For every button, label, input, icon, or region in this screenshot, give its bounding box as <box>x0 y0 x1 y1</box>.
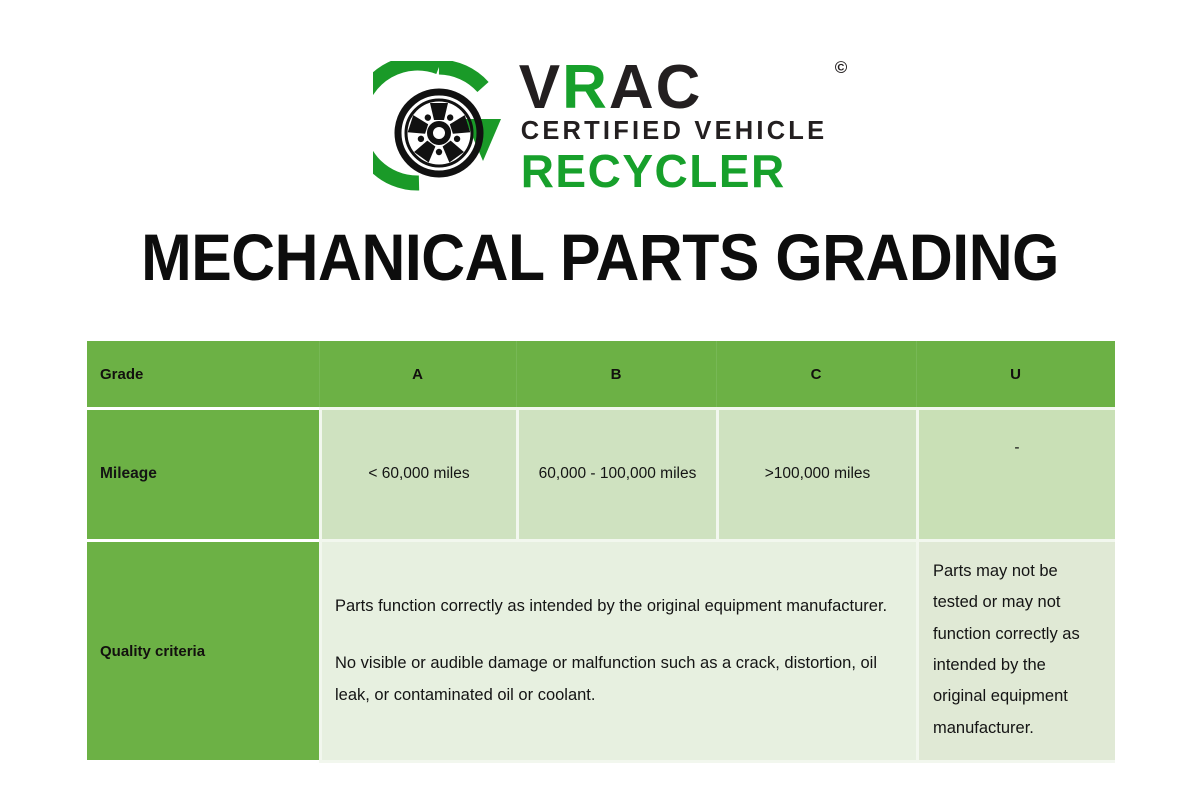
vrac-logo: VRAC© CERTIFIED VEHICLE RECYCLER <box>0 52 1200 202</box>
cell-quality-criteria-u: Parts may not be tested or may not funct… <box>916 542 1115 763</box>
table-row-mileage: Mileage < 60,000 miles 60,000 - 100,000 … <box>87 407 1115 542</box>
cell-mileage-b: 60,000 - 100,000 miles <box>516 407 716 542</box>
logo-wordmark: VRAC© <box>519 59 828 118</box>
cell-mileage-c: >100,000 miles <box>716 407 916 542</box>
page-title: MECHANICAL PARTS GRADING <box>48 219 1152 295</box>
cell-quality-criteria-abc: Parts function correctly as intended by … <box>319 542 916 763</box>
column-header-c: C <box>716 341 916 407</box>
copyright-icon: © <box>835 59 850 76</box>
recycling-wheel-icon <box>373 61 505 193</box>
row-label-mileage: Mileage <box>87 407 319 542</box>
logo-recycler: RECYCLER <box>519 147 828 197</box>
mechanical-parts-grading-table: Grade A B C U Mileage < 60,000 miles 60,… <box>87 341 1115 763</box>
cell-mileage-u: - <box>916 407 1115 542</box>
logo-wordmark-v: V <box>519 53 562 122</box>
cell-mileage-a: < 60,000 miles <box>319 407 516 542</box>
column-header-grade: Grade <box>87 341 319 407</box>
logo-tagline: CERTIFIED VEHICLE <box>519 116 828 148</box>
logo-wordmark-ac: AC <box>609 53 703 122</box>
table-row-quality-criteria: Quality criteria Parts function correctl… <box>87 542 1115 763</box>
column-header-a: A <box>319 341 516 407</box>
column-header-b: B <box>516 341 716 407</box>
column-header-u: U <box>916 341 1115 407</box>
logo-wordmark-r: R <box>562 53 609 122</box>
row-label-quality-criteria: Quality criteria <box>87 542 319 763</box>
table-header-row: Grade A B C U <box>87 341 1115 407</box>
quality-criteria-paragraph-1: Parts function correctly as intended by … <box>335 591 894 622</box>
quality-criteria-paragraph-2: No visible or audible damage or malfunct… <box>335 648 894 710</box>
quality-criteria-u-text: Parts may not be tested or may not funct… <box>933 542 1099 744</box>
